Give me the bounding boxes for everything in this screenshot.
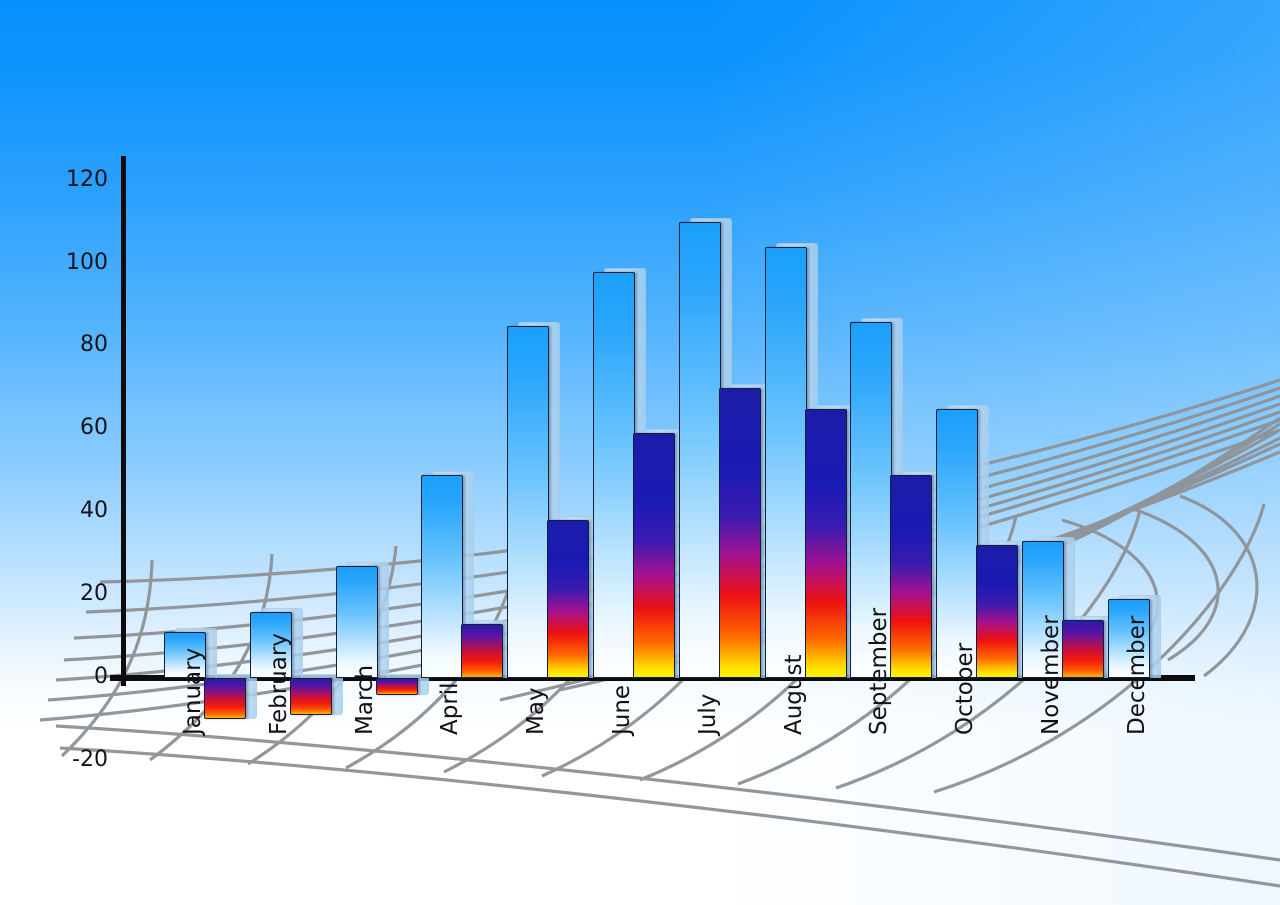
bar-hot xyxy=(461,624,503,678)
y-tick-label: 0 xyxy=(48,664,108,689)
bar-blue xyxy=(936,409,978,678)
bar-hot xyxy=(890,475,932,678)
bar-hot xyxy=(204,678,246,719)
y-tick-label: -20 xyxy=(48,747,108,772)
y-tick-label: 60 xyxy=(48,415,108,440)
category-label-april: April xyxy=(437,682,463,735)
bar-blue xyxy=(421,475,463,678)
y-tick-label: 120 xyxy=(48,167,108,192)
bar-hot xyxy=(805,409,847,678)
y-tick-label: 40 xyxy=(48,498,108,523)
category-label-march: March xyxy=(352,665,378,735)
bar-hot xyxy=(1062,620,1104,678)
bar-blue xyxy=(507,326,549,678)
category-label-february: February xyxy=(266,633,292,735)
bar-blue xyxy=(679,222,721,678)
bar-hot xyxy=(290,678,332,715)
bar-blue xyxy=(336,566,378,678)
bar-hot xyxy=(376,678,418,695)
bar-hot xyxy=(547,520,589,678)
y-tick-label: 100 xyxy=(48,250,108,275)
bar-hot xyxy=(719,388,761,678)
chart-canvas: 120100806040200-20 JanuaryFebruaryMarchA… xyxy=(0,0,1280,905)
category-label-november: November xyxy=(1038,615,1064,735)
category-label-december: December xyxy=(1124,616,1150,735)
plot-area: 120100806040200-20 JanuaryFebruaryMarchA… xyxy=(0,0,1280,905)
y-axis-line xyxy=(121,156,126,686)
category-label-september: September xyxy=(866,608,892,735)
bar-hot xyxy=(976,545,1018,678)
category-label-july: July xyxy=(695,694,721,735)
category-label-january: January xyxy=(180,648,206,735)
category-label-august: August xyxy=(781,655,807,736)
y-tick-label: 80 xyxy=(48,332,108,357)
category-label-june: June xyxy=(609,685,635,735)
bar-blue xyxy=(765,247,807,678)
category-label-october: October xyxy=(952,643,978,735)
bar-hot xyxy=(633,433,675,678)
y-tick-label: 20 xyxy=(48,581,108,606)
bar-blue xyxy=(593,272,635,678)
category-label-may: May xyxy=(523,687,549,735)
